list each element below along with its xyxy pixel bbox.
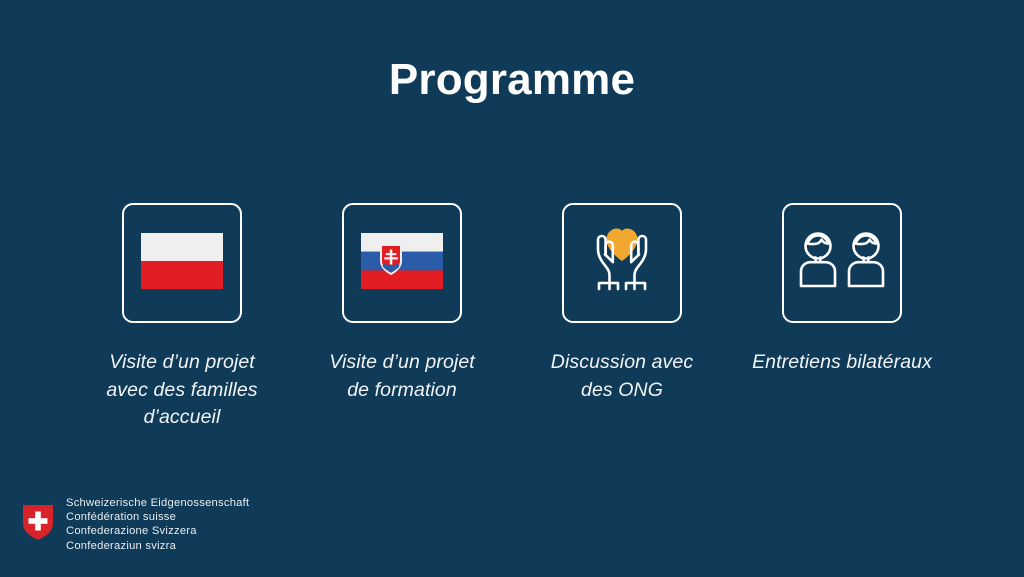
- caption-line: Discussion avec: [522, 349, 722, 377]
- caption-line: d’accueil: [82, 404, 282, 432]
- programme-item-slovakia[interactable]: Visite d’un projet de formation: [295, 203, 509, 404]
- programme-item-caption: Visite d’un projet de formation: [302, 349, 502, 404]
- icon-box-poland[interactable]: [122, 203, 242, 323]
- programme-item-ngo[interactable]: Discussion avec des ONG: [515, 203, 729, 404]
- caption-line: des ONG: [522, 377, 722, 405]
- slide-canvas: Programme Visite d’un projet avec des fa…: [0, 0, 1024, 577]
- poland-flag-icon: [141, 233, 223, 294]
- logo-line-fr: Confédération suisse: [66, 510, 249, 524]
- swiss-cross-shield-icon: [21, 503, 55, 546]
- caption-line: avec des familles: [82, 377, 282, 405]
- programme-item-poland[interactable]: Visite d’un projet avec des familles d’a…: [75, 203, 289, 432]
- icon-box-ngo[interactable]: [562, 203, 682, 323]
- page-title: Programme: [0, 55, 1024, 106]
- icon-box-slovakia[interactable]: [342, 203, 462, 323]
- programme-items-row: Visite d’un projet avec des familles d’a…: [75, 203, 949, 432]
- programme-item-caption: Visite d’un projet avec des familles d’a…: [82, 349, 282, 432]
- caption-line: Entretiens bilatéraux: [742, 349, 942, 377]
- swiss-confederation-logo: Schweizerische Eidgenossenschaft Confédé…: [21, 496, 249, 553]
- two-people-icon: [795, 229, 889, 298]
- swiss-logo-text: Schweizerische Eidgenossenschaft Confédé…: [66, 496, 249, 553]
- logo-line-it: Confederazione Svizzera: [66, 524, 249, 538]
- programme-item-caption: Discussion avec des ONG: [522, 349, 722, 404]
- programme-item-bilateral[interactable]: Entretiens bilatéraux: [735, 203, 949, 377]
- logo-line-rm: Confederaziun svizra: [66, 539, 249, 553]
- caption-line: de formation: [302, 377, 502, 405]
- slovakia-flag-icon: [361, 233, 443, 294]
- icon-box-bilateral[interactable]: [782, 203, 902, 323]
- caption-line: Visite d’un projet: [302, 349, 502, 377]
- caption-line: Visite d’un projet: [82, 349, 282, 377]
- programme-item-caption: Entretiens bilatéraux: [742, 349, 942, 377]
- hands-holding-heart-icon: [576, 217, 668, 310]
- logo-line-de: Schweizerische Eidgenossenschaft: [66, 496, 249, 510]
